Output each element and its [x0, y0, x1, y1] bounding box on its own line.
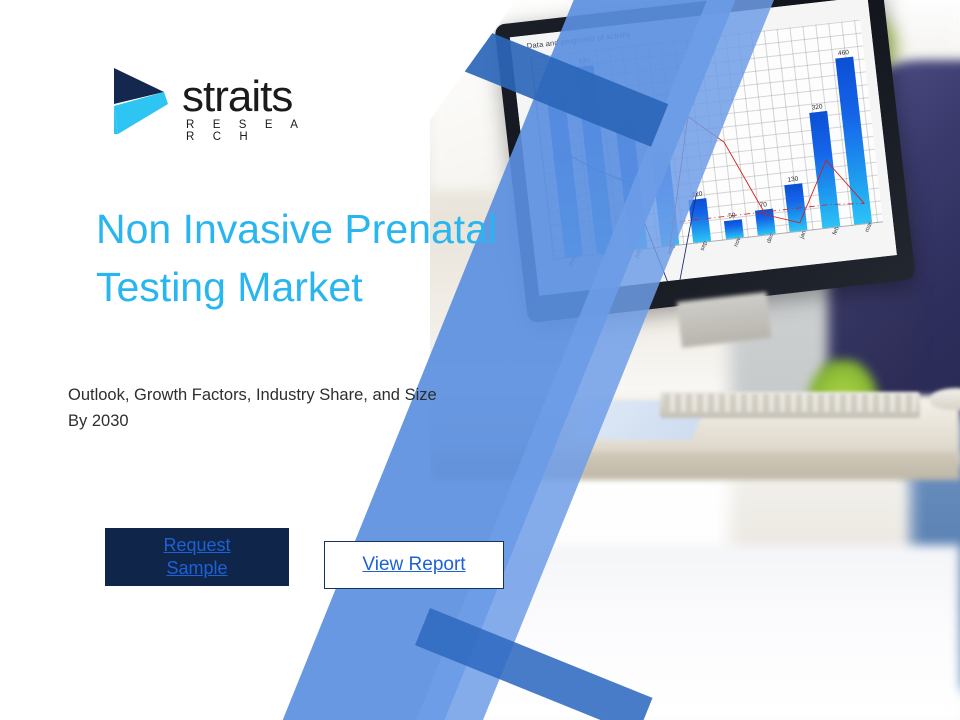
page-subtitle-line-2: By 2030: [68, 409, 548, 435]
chevron-arrow-logo-icon: [108, 62, 174, 138]
monitor-screen: Data and prognosis of activity 440520340…: [510, 0, 897, 296]
page-subtitle-line-1: Outlook, Growth Factors, Industry Share,…: [68, 383, 548, 409]
page-title-line-1: Non Invasive Prenatal: [96, 200, 566, 258]
request-sample-line-1: Request: [163, 535, 230, 555]
page-title: Non Invasive Prenatal Testing Market: [96, 200, 566, 316]
chart-plot-area: 4405203402601205070130320460: [530, 20, 883, 260]
view-report-button[interactable]: View Report: [324, 541, 504, 589]
request-sample-line-2: Sample: [166, 558, 227, 578]
photo-mouse-icon: [930, 388, 960, 410]
page-subtitle: Outlook, Growth Factors, Industry Share,…: [68, 383, 548, 434]
request-sample-button[interactable]: Request Sample: [105, 528, 289, 586]
brand-tagline: R E S E A R C H: [186, 119, 308, 143]
red-dashed-baseline: [667, 201, 865, 226]
activity-bar-chart: Data and prognosis of activity 440520340…: [510, 0, 897, 296]
photo-keyboard-icon: [660, 392, 920, 418]
marketing-banner: Data and prognosis of activity 440520340…: [0, 0, 960, 720]
view-report-label: View Report: [362, 554, 465, 576]
page-title-line-2: Testing Market: [96, 258, 566, 316]
brand-name: straits: [182, 72, 292, 122]
request-sample-label: Request Sample: [163, 534, 230, 580]
content-column: straits R E S E A R C H Non Invasive Pre…: [0, 0, 560, 720]
brand-logo[interactable]: straits R E S E A R C H: [108, 62, 308, 144]
